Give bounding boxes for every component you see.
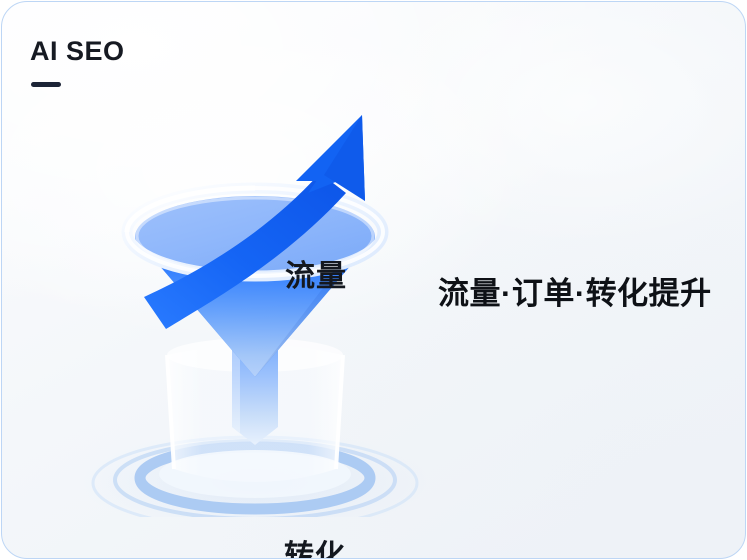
poster-canvas: AI SEO 流量·订单·转化提升	[0, 0, 747, 560]
funnel-illustration: 流量 转化	[62, 97, 462, 517]
tagline-text: 流量·订单·转化提升	[438, 277, 712, 311]
poster-card: AI SEO 流量·订单·转化提升	[1, 1, 746, 559]
funnel-label-traffic: 流量	[285, 251, 347, 295]
page-title: AI SEO	[30, 38, 125, 65]
title-underline-rule	[31, 82, 61, 87]
funnel-label-conversion: 转化	[284, 531, 346, 559]
funnel-graphic	[62, 97, 462, 517]
